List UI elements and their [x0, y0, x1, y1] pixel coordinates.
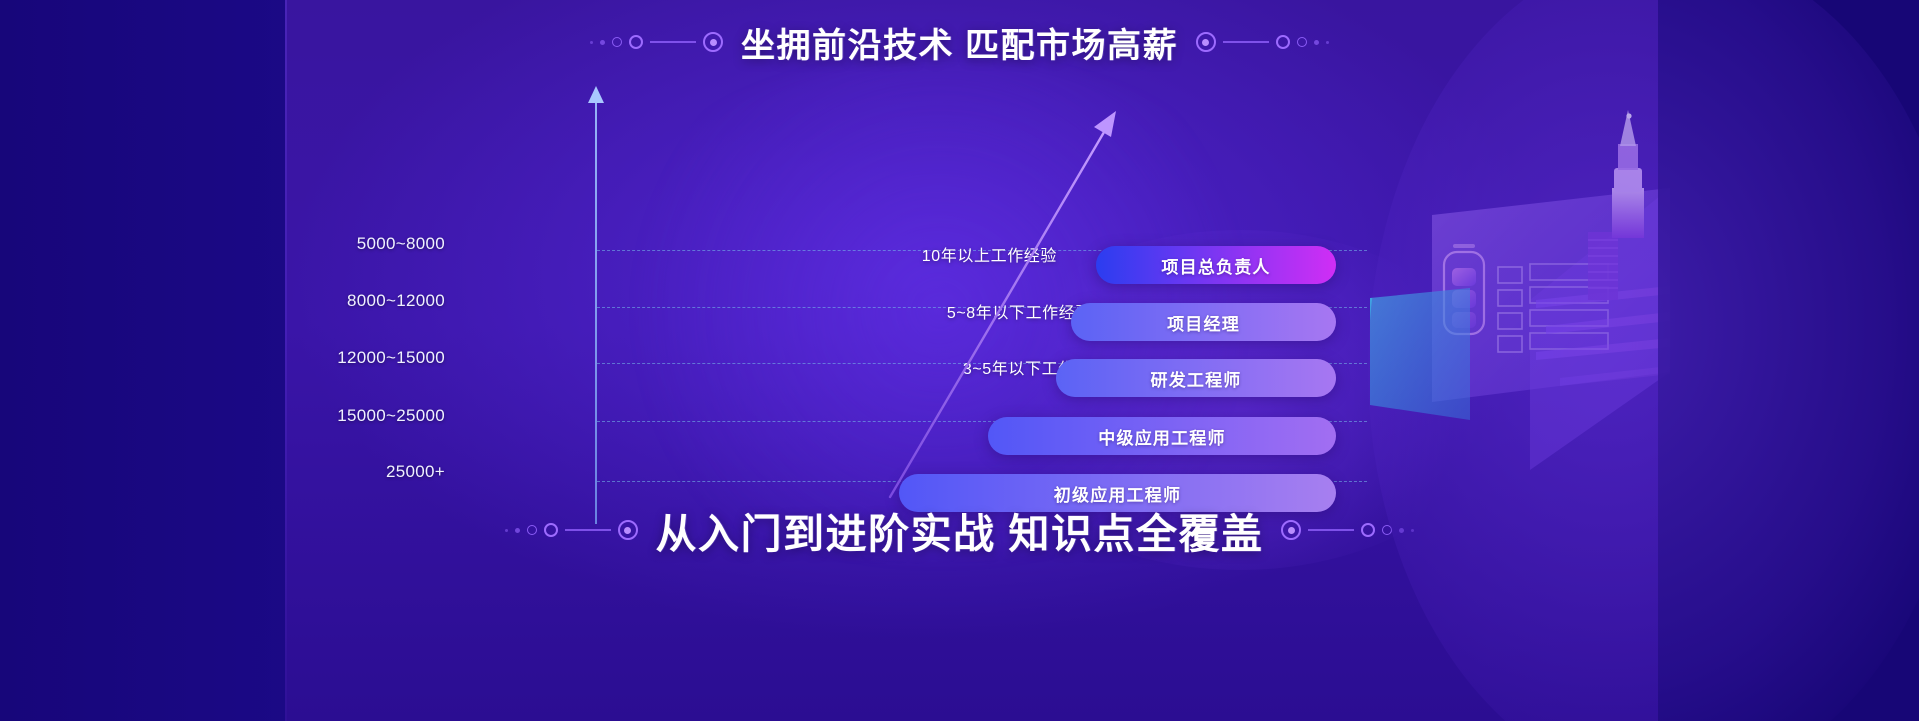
ornament-dot-tiny-icon	[505, 529, 508, 532]
ornament-dot-small-icon	[1399, 528, 1404, 533]
ornament-dot-tiny-icon	[1411, 529, 1414, 532]
ornament-line-icon	[565, 529, 611, 531]
ornament-line-icon	[1308, 529, 1354, 531]
ornament-ring-small-icon	[527, 525, 537, 535]
bottom-headline-row: 从入门到进阶实战 知识点全覆盖	[0, 497, 1919, 563]
arrow-up-icon	[588, 86, 604, 103]
role-pill[interactable]: 中级应用工程师	[988, 417, 1336, 455]
ornament-ring-small-icon	[1382, 525, 1392, 535]
ornament-ring-medium-icon	[1361, 523, 1375, 537]
headline-ornament-right	[1281, 520, 1414, 540]
headline-ornament-left	[590, 32, 723, 52]
y-axis-tick-label: 25000+	[386, 462, 445, 482]
ornament-line-icon	[650, 41, 696, 43]
y-axis-tick-label: 12000~15000	[337, 348, 445, 368]
y-axis-tick-label: 15000~25000	[337, 406, 445, 426]
role-pill[interactable]: 项目经理	[1071, 303, 1336, 341]
headline-ornament-left	[505, 520, 638, 540]
ornament-dot-small-icon	[600, 40, 605, 45]
ornament-dot-small-icon	[515, 528, 520, 533]
ornament-ring-large-icon	[1196, 32, 1216, 52]
role-pill[interactable]: 研发工程师	[1056, 359, 1336, 397]
ornament-ring-medium-icon	[544, 523, 558, 537]
ornament-dot-tiny-icon	[590, 41, 593, 44]
ornament-dot-small-icon	[1314, 40, 1319, 45]
headline-ornament-right	[1196, 32, 1329, 52]
ornament-ring-medium-icon	[629, 35, 643, 49]
ornament-line-icon	[1223, 41, 1269, 43]
ornament-ring-medium-icon	[1276, 35, 1290, 49]
experience-label: 10年以上工作经验	[922, 242, 1057, 266]
ornament-ring-large-icon	[1281, 520, 1301, 540]
section-subtitle: 从入门到进阶实战 知识点全覆盖	[656, 500, 1264, 560]
banner-stage: 坐拥前沿技术 匹配市场高薪 5000~80008000~1200012000~1…	[0, 0, 1919, 721]
top-headline-row: 坐拥前沿技术 匹配市场高薪	[0, 14, 1919, 70]
y-axis-line	[595, 100, 597, 524]
page-title: 坐拥前沿技术 匹配市场高薪	[741, 18, 1178, 67]
ornament-ring-small-icon	[1297, 37, 1307, 47]
ornament-dot-tiny-icon	[1326, 41, 1329, 44]
y-axis-tick-label: 8000~12000	[347, 291, 445, 311]
ornament-ring-small-icon	[612, 37, 622, 47]
ornament-ring-large-icon	[618, 520, 638, 540]
ornament-ring-large-icon	[703, 32, 723, 52]
y-axis-tick-label: 5000~8000	[357, 234, 445, 254]
salary-career-chart: 5000~80008000~1200012000~1500015000~2500…	[0, 95, 1919, 455]
role-pill[interactable]: 项目总负责人	[1096, 246, 1336, 284]
